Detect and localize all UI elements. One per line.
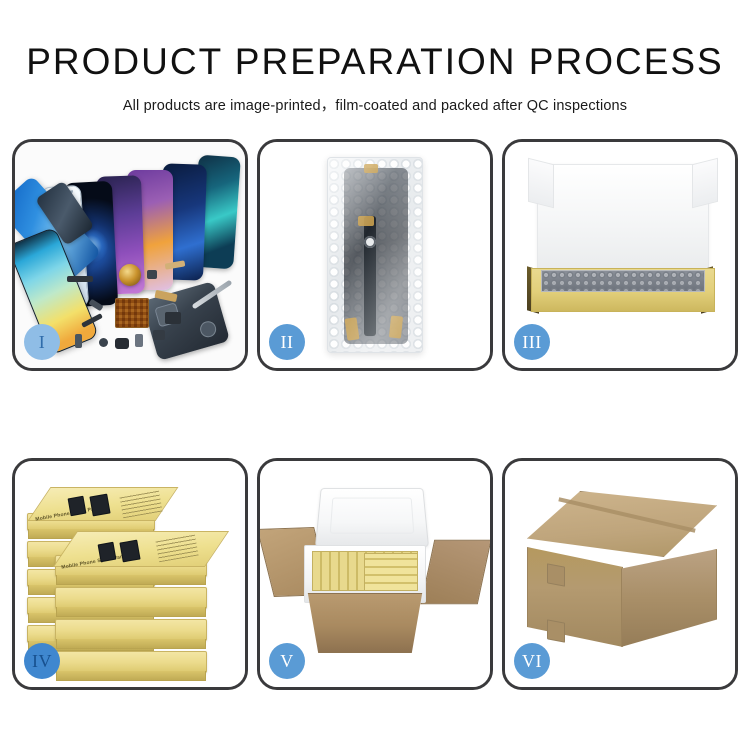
bubble-wrapped-contents	[541, 270, 705, 292]
step-badge-iv: IV	[24, 643, 60, 679]
chip-grid-part	[115, 298, 149, 328]
carton-tape-patch	[547, 619, 565, 642]
box-window-graphic	[68, 496, 87, 517]
step-badge-vi: VI	[514, 643, 550, 679]
spare-part	[115, 338, 129, 349]
stacked-box	[55, 651, 207, 673]
bubble-wrap-bag	[327, 157, 423, 353]
shipping-carton-open	[300, 593, 430, 653]
spare-part	[75, 334, 82, 348]
styrofoam-lid	[315, 488, 429, 547]
stacked-box	[55, 619, 207, 641]
bubble-gloss-highlight	[328, 158, 422, 352]
step-panel-ii: II	[257, 139, 493, 371]
spare-part	[153, 330, 165, 340]
box-window-graphic	[98, 542, 117, 563]
box-window-graphic	[119, 540, 140, 563]
step-badge-v: V	[269, 643, 305, 679]
white-foam-lid	[537, 164, 709, 276]
step-badge-ii: II	[269, 324, 305, 360]
step-panel-iii: III	[502, 139, 738, 371]
header: PRODUCT PREPARATION PROCESS All products…	[0, 0, 750, 115]
product-preparation-infographic: PRODUCT PREPARATION PROCESS All products…	[0, 0, 750, 750]
spare-part	[147, 270, 157, 279]
step-badge-i: I	[24, 324, 60, 360]
speaker-coil-part	[119, 264, 141, 286]
page-subtitle: All products are image-printed，film-coat…	[0, 94, 750, 115]
spare-part	[99, 338, 108, 347]
step-panel-iv: Mobile Phone Spare Parts Mobile Phone Sp…	[12, 458, 248, 690]
process-steps-grid: I II	[12, 139, 738, 695]
box-window-graphic	[89, 494, 110, 517]
stacked-box	[55, 587, 207, 609]
spare-part	[67, 276, 93, 282]
carton-tape-patch	[547, 563, 565, 586]
step-panel-v: V	[257, 458, 493, 690]
yellow-boxes-row	[364, 553, 418, 591]
spare-part	[135, 334, 143, 347]
spare-part	[165, 312, 181, 324]
step-panel-vi: VI	[502, 458, 738, 690]
page-title: PRODUCT PREPARATION PROCESS	[0, 43, 750, 82]
step-panel-i: I	[12, 139, 248, 371]
step-badge-iii: III	[514, 324, 550, 360]
